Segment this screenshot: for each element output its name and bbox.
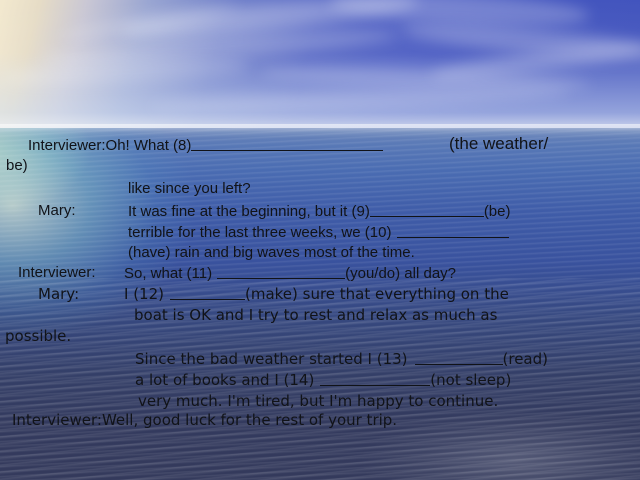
line-14-text: Well, good luck for the rest of your tri… (102, 411, 402, 429)
dialogue-line-6: (have) rain and big waves most of the ti… (128, 245, 415, 261)
speaker-label-interviewer: Interviewer: (28, 137, 106, 154)
speaker-label-mary-2: Mary: (38, 286, 79, 302)
dialogue-line-14: Interviewer:Well, good luck for the rest… (12, 412, 402, 428)
dialogue-line-9: boat is OK and I try to rest and relax a… (134, 307, 497, 323)
dialogue-line-13: very much. I'm tired, but I'm happy to c… (138, 393, 498, 409)
dialogue-line-5: terrible for the last three weeks, we (1… (128, 224, 509, 241)
line-1-text: Oh! What (8) (106, 137, 192, 154)
speaker-label-interviewer-2: Interviewer: (18, 265, 96, 281)
cloud-shape (150, 85, 570, 116)
speaker-label-mary-1: Mary: (38, 203, 76, 219)
dialogue-line-3: like since you left? (128, 181, 251, 197)
dialogue-line-2: be) (6, 158, 28, 174)
slide-canvas: Interviewer:Oh! What (8) (the weather/ b… (0, 0, 640, 480)
line-1-cue: (the weather/ (449, 136, 548, 152)
blank-9 (370, 203, 484, 217)
line-4-text: It was fine at the beginning, but it (9) (128, 203, 370, 220)
dialogue-line-10: possible. (5, 328, 71, 344)
blank-10 (397, 224, 509, 238)
line-7-text: So, what (11) (124, 265, 212, 282)
line-12-cue: (not sleep) (430, 371, 521, 389)
blank-13 (415, 351, 503, 365)
sky-background (0, 0, 640, 131)
line-7-cue: (you/do) all day? (345, 265, 460, 282)
dialogue-line-1: Interviewer:Oh! What (8) (28, 137, 383, 154)
dialogue-line-11: Since the bad weather started I (13)(rea… (135, 351, 553, 367)
dialogue-line-8: I (12)(make) sure that everything on the (124, 286, 514, 302)
line-5-text: terrible for the last three weeks, we (1… (128, 224, 391, 241)
blank-11 (217, 265, 345, 279)
line-11-cue: (read) (503, 350, 553, 368)
line-12-text: a lot of books and I (14) (135, 371, 314, 389)
line-11-text: Since the bad weather started I (13) (135, 350, 408, 368)
line-8-text: I (12) (124, 285, 164, 303)
blank-8 (191, 137, 383, 151)
line-8-cue: (make) sure that everything on the (245, 285, 514, 303)
dialogue-line-12: a lot of books and I (14)(not sleep) (135, 372, 521, 388)
blank-12 (170, 286, 245, 300)
blank-14 (320, 372, 430, 386)
line-4-cue: (be) (484, 203, 515, 220)
speaker-label-interviewer-3: Interviewer: (12, 411, 102, 429)
dialogue-line-4: It was fine at the beginning, but it (9)… (128, 203, 515, 220)
dialogue-line-7: So, what (11)(you/do) all day? (124, 265, 460, 282)
